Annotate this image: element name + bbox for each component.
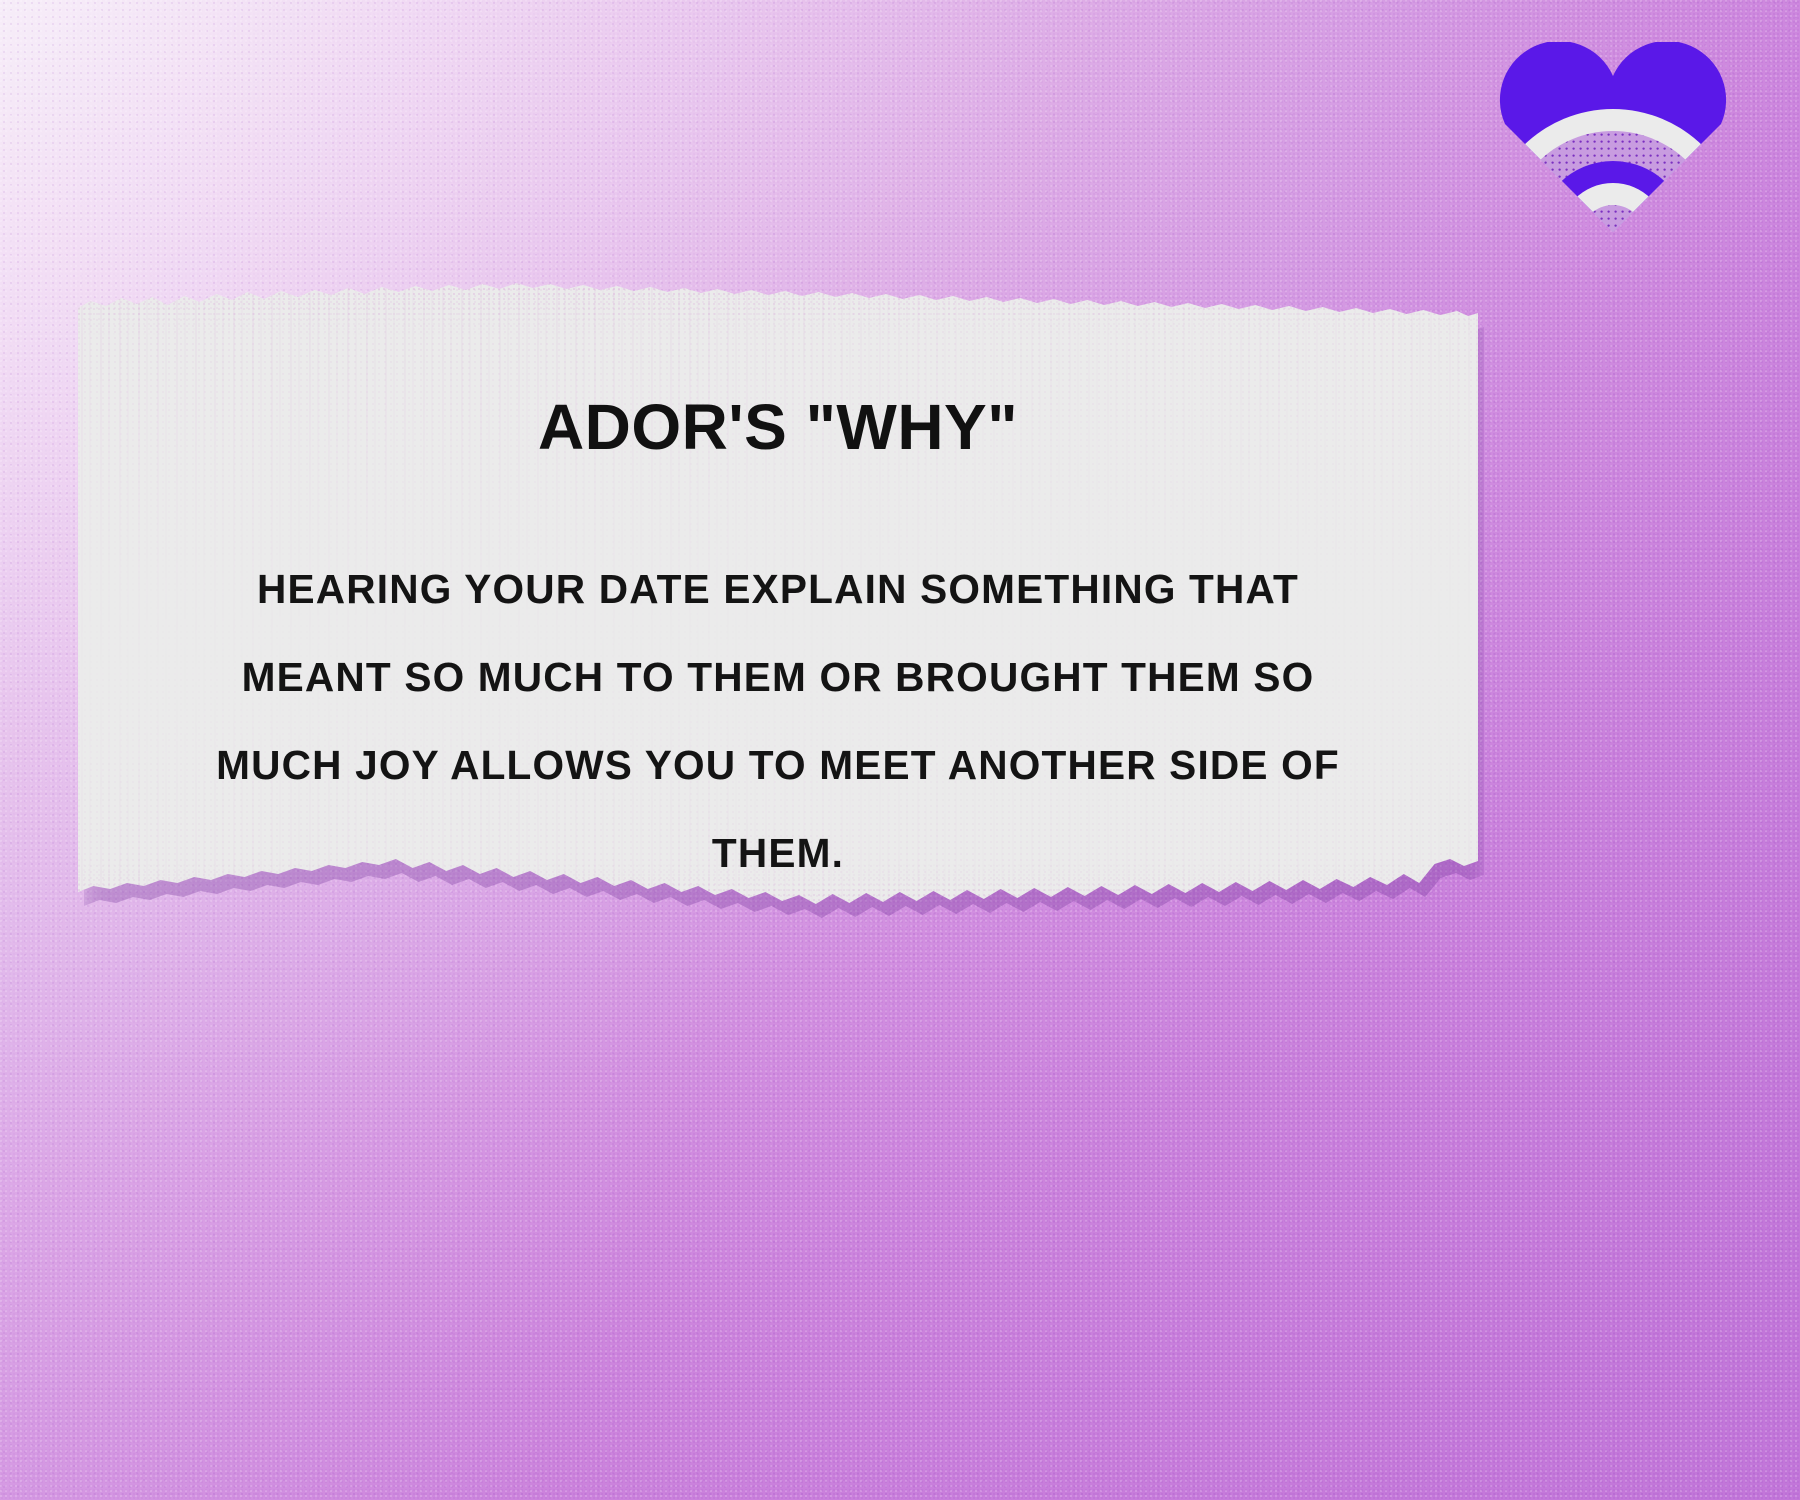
page-title: ADOR'S "WHY" [78,395,1478,459]
body-copy: HEARING YOUR DATE EXPLAIN SOMETHING THAT… [112,545,1444,897]
body-line: THEM. [119,809,1438,897]
body-line: MUCH JOY ALLOWS YOU TO MEET ANOTHER SIDE… [119,721,1438,809]
torn-paper-card: ADOR'S "WHY" HEARING YOUR DATE EXPLAIN S… [78,283,1478,943]
poster-canvas: ADOR'S "WHY" HEARING YOUR DATE EXPLAIN S… [0,0,1800,1500]
heart-logo [1495,42,1731,232]
card-text-block: ADOR'S "WHY" HEARING YOUR DATE EXPLAIN S… [78,283,1478,931]
body-line: HEARING YOUR DATE EXPLAIN SOMETHING THAT [119,545,1438,633]
body-line: MEANT SO MUCH TO THEM OR BROUGHT THEM SO [119,633,1438,721]
